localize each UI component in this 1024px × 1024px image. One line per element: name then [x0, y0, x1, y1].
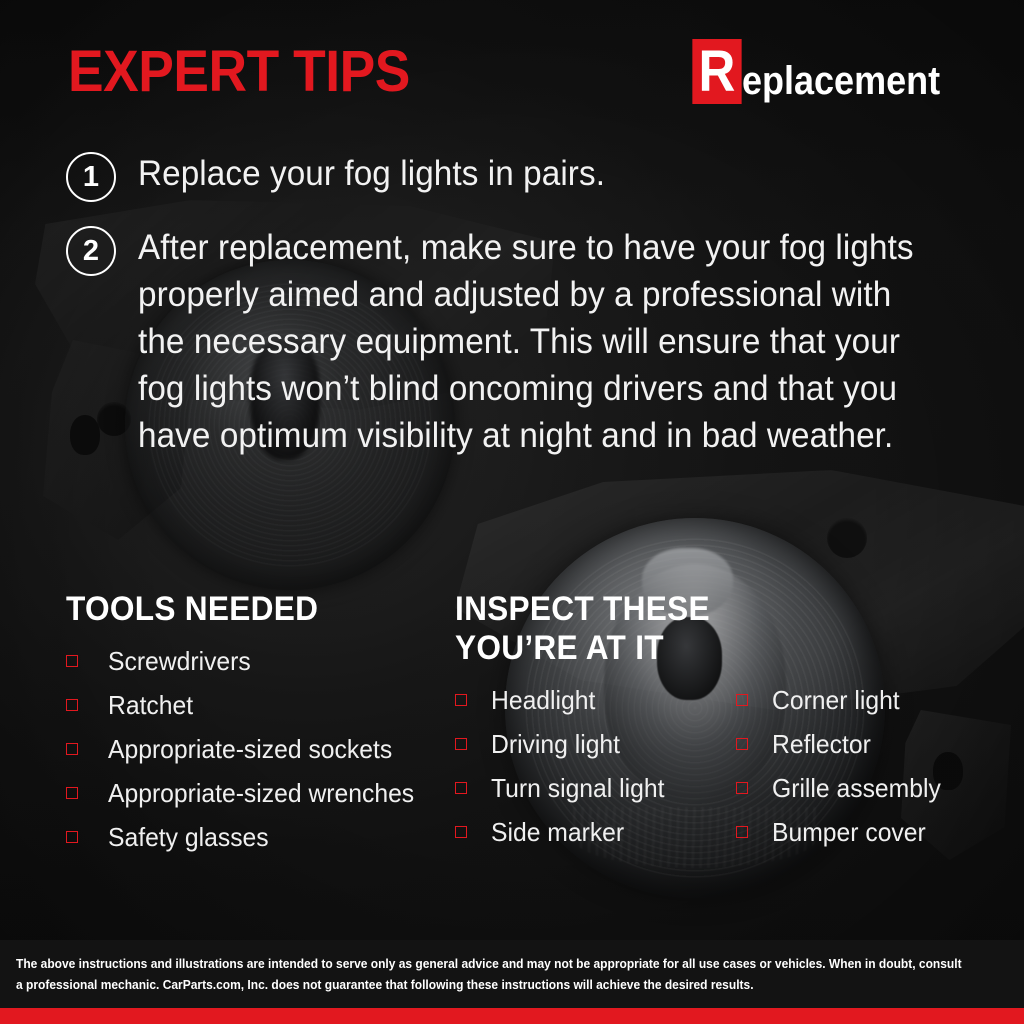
checkbox-icon[interactable] [455, 782, 467, 794]
disclaimer-text: The above instructions and illustrations… [16, 954, 968, 996]
logo-wordmark-wrap: eplacement [742, 59, 962, 104]
checkbox-icon[interactable] [66, 699, 78, 711]
logo-initial-r: R [692, 39, 741, 104]
checkbox-icon[interactable] [736, 694, 748, 706]
list-item[interactable]: Reflector [736, 730, 975, 758]
logo-wordmark: eplacement [742, 59, 940, 104]
tip-item: 2 After replacement, make sure to have y… [66, 224, 966, 459]
tools-needed-panel: TOOLS NEEDED Screwdrivers Ratchet Approp… [66, 590, 446, 867]
list-item[interactable]: Ratchet [66, 691, 446, 719]
list-item-label: Ratchet [108, 691, 193, 719]
checkbox-icon[interactable] [66, 743, 78, 755]
list-item-label: Appropriate-sized wrenches [108, 779, 414, 807]
inspect-checklist-column-2: Corner light Reflector Grille assembly B… [736, 686, 975, 862]
checkbox-icon[interactable] [66, 831, 78, 843]
replacement-brand-logo: R eplacement [689, 42, 962, 104]
bottom-accent-bar [0, 1008, 1024, 1024]
checkbox-icon[interactable] [66, 787, 78, 799]
list-item[interactable]: Grille assembly [736, 774, 975, 802]
inspect-these-heading: INSPECT THESE YOU’RE AT IT [455, 590, 939, 668]
list-item-label: Grille assembly [772, 774, 941, 802]
list-item-label: Bumper cover [772, 818, 926, 846]
list-item-label: Screwdrivers [108, 647, 251, 675]
expert-tips-list: 1 Replace your fog lights in pairs. 2 Af… [66, 150, 966, 481]
list-item-label: Corner light [772, 686, 900, 714]
tip-number-badge: 1 [66, 152, 116, 202]
expert-tips-poster: EXPERT TIPS R eplacement 1 Replace your … [0, 0, 1024, 1024]
list-item[interactable]: Headlight [455, 686, 736, 714]
poster-content: EXPERT TIPS R eplacement 1 Replace your … [0, 0, 1024, 1024]
disclaimer-footer: The above instructions and illustrations… [0, 940, 1024, 1008]
tools-needed-checklist: Screwdrivers Ratchet Appropriate-sized s… [66, 647, 446, 851]
list-item-label: Side marker [491, 818, 624, 846]
list-item-label: Safety glasses [108, 823, 269, 851]
checkbox-icon[interactable] [736, 826, 748, 838]
inspect-checklist-column-1: Headlight Driving light Turn signal ligh… [455, 686, 736, 862]
tip-item: 1 Replace your fog lights in pairs. [66, 150, 966, 202]
list-item[interactable]: Corner light [736, 686, 975, 714]
list-item[interactable]: Side marker [455, 818, 736, 846]
list-item-label: Turn signal light [491, 774, 664, 802]
checkbox-icon[interactable] [736, 738, 748, 750]
tip-number-badge: 2 [66, 226, 116, 276]
list-item[interactable]: Turn signal light [455, 774, 736, 802]
tools-needed-heading: TOOLS NEEDED [66, 590, 419, 629]
checkbox-icon[interactable] [736, 782, 748, 794]
list-item[interactable]: Appropriate-sized wrenches [66, 779, 446, 807]
list-item[interactable]: Safety glasses [66, 823, 446, 851]
list-item[interactable]: Screwdrivers [66, 647, 446, 675]
checkbox-icon[interactable] [455, 694, 467, 706]
list-item-label: Headlight [491, 686, 595, 714]
list-item-label: Driving light [491, 730, 620, 758]
list-item[interactable]: Appropriate-sized sockets [66, 735, 446, 763]
inspect-these-panel: INSPECT THESE YOU’RE AT IT Headlight Dri… [455, 590, 975, 862]
tip-text: Replace your fog lights in pairs. [138, 150, 605, 197]
inspect-checklist-columns: Headlight Driving light Turn signal ligh… [455, 686, 975, 862]
list-item[interactable]: Driving light [455, 730, 736, 758]
checkbox-icon[interactable] [455, 738, 467, 750]
checkbox-icon[interactable] [455, 826, 467, 838]
list-item[interactable]: Bumper cover [736, 818, 975, 846]
list-item-label: Appropriate-sized sockets [108, 735, 392, 763]
checkbox-icon[interactable] [66, 655, 78, 667]
tip-text: After replacement, make sure to have you… [138, 224, 925, 459]
list-item-label: Reflector [772, 730, 871, 758]
page-title: EXPERT TIPS [68, 43, 410, 101]
